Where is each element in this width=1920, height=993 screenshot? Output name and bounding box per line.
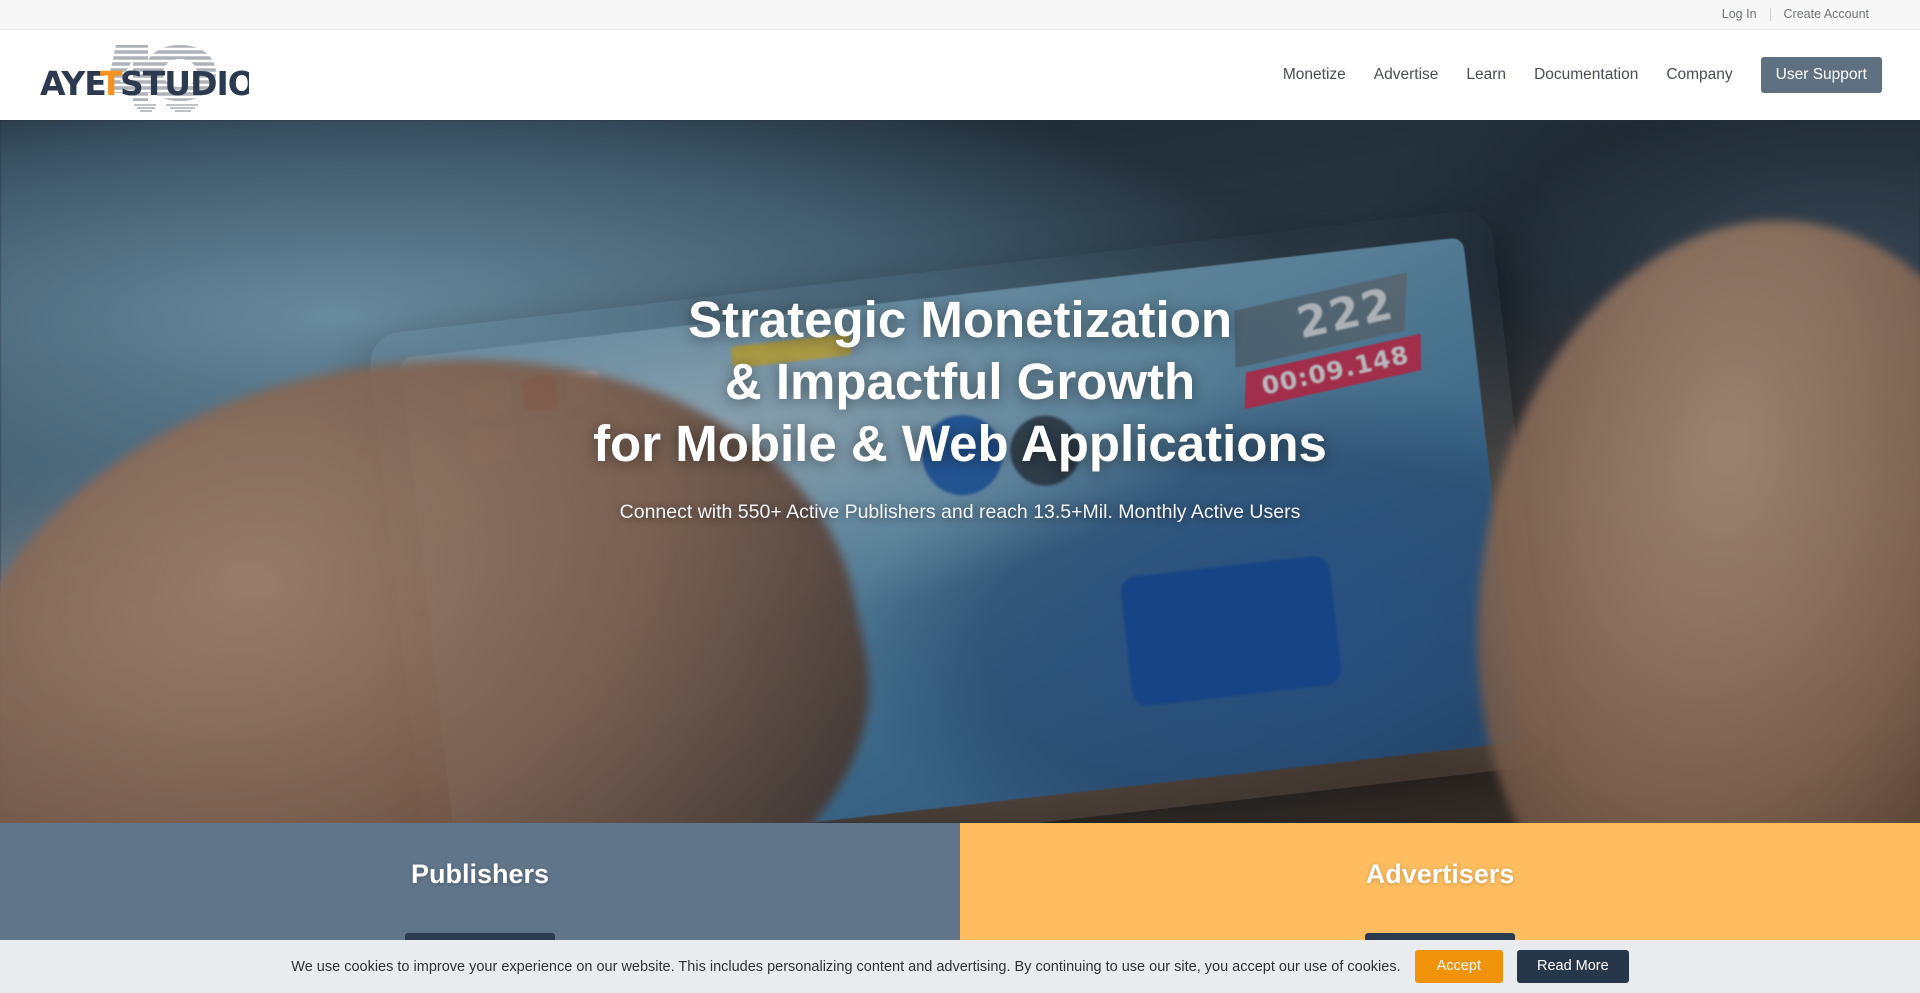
hero-content: Strategic Monetization & Impactful Growt… [0,120,1920,823]
ayet-studios-logo-icon: AYE T STUDIOS [34,37,249,113]
brand-logo[interactable]: AYE T STUDIOS [34,37,249,113]
cookie-consent-banner: We use cookies to improve your experienc… [0,940,1920,993]
cookie-read-more-button[interactable]: Read More [1517,950,1629,983]
panel-advertisers-title: Advertisers [1366,859,1515,890]
hero-headline-line-2: & Impactful Growth [725,353,1195,410]
svg-text:STUDIOS: STUDIOS [120,64,249,103]
hero-subheadline: Connect with 550+ Active Publishers and … [620,501,1301,524]
primary-nav: Monetize Advertise Learn Documentation C… [1269,57,1882,93]
nav-item-documentation[interactable]: Documentation [1520,67,1652,83]
svg-text:AYE: AYE [40,64,106,103]
site-header: AYE T STUDIOS Monetize Advertise Learn D… [0,30,1920,120]
user-support-button[interactable]: User Support [1761,57,1882,93]
cookie-accept-button[interactable]: Accept [1415,950,1503,983]
hero-section: 222 00:09.148 Strategic Monetization & I… [0,120,1920,823]
nav-item-monetize[interactable]: Monetize [1269,67,1360,83]
create-account-link[interactable]: Create Account [1771,8,1882,21]
hero-headline: Strategic Monetization & Impactful Growt… [593,289,1327,476]
nav-item-advertise[interactable]: Advertise [1360,67,1453,83]
hero-headline-line-1: Strategic Monetization [688,291,1232,348]
utility-bar: Log In Create Account [0,0,1920,30]
nav-item-company[interactable]: Company [1652,67,1746,83]
cookie-message: We use cookies to improve your experienc… [291,959,1400,975]
login-link[interactable]: Log In [1709,8,1770,21]
nav-item-learn[interactable]: Learn [1452,67,1520,83]
panel-publishers-title: Publishers [411,859,549,890]
hero-headline-line-3: for Mobile & Web Applications [593,415,1327,472]
